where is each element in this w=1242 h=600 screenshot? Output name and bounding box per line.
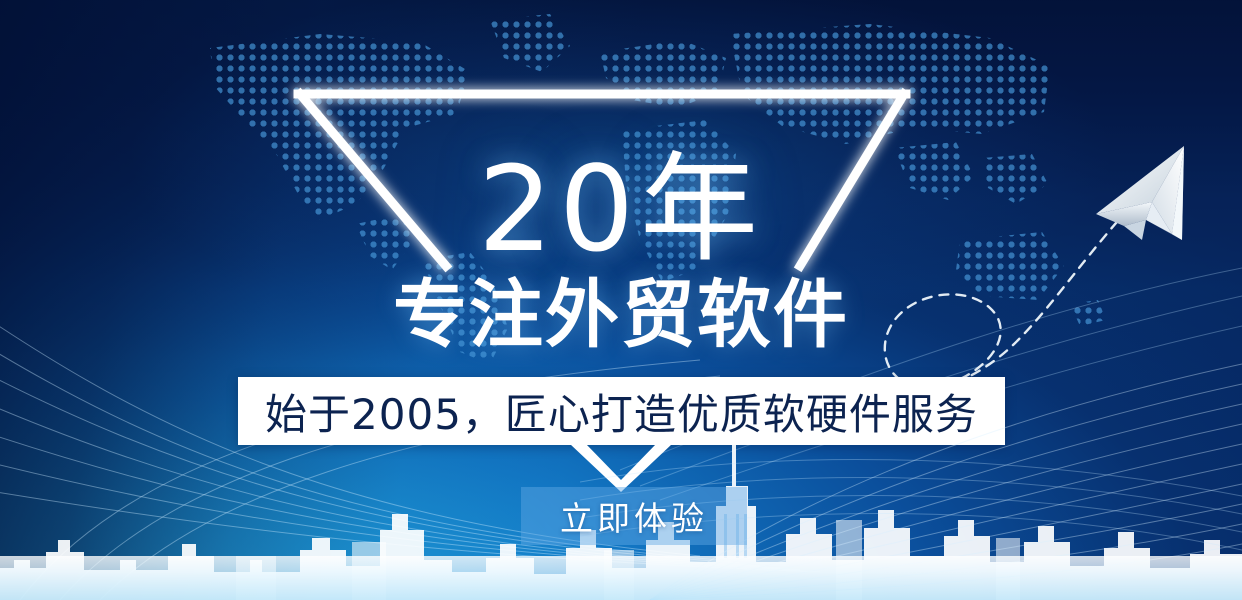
hero-banner: 20年 专注外贸软件 始于2005，匠心打造优质软硬件服务 [0, 0, 1242, 600]
cta-button-label: 立即体验 [560, 492, 708, 540]
perspective-mesh-lines [580, 300, 1242, 600]
cta-button[interactable]: 立即体验 [521, 487, 747, 545]
ground-strip [0, 556, 1242, 600]
page-title: 20年 [0, 150, 1242, 268]
